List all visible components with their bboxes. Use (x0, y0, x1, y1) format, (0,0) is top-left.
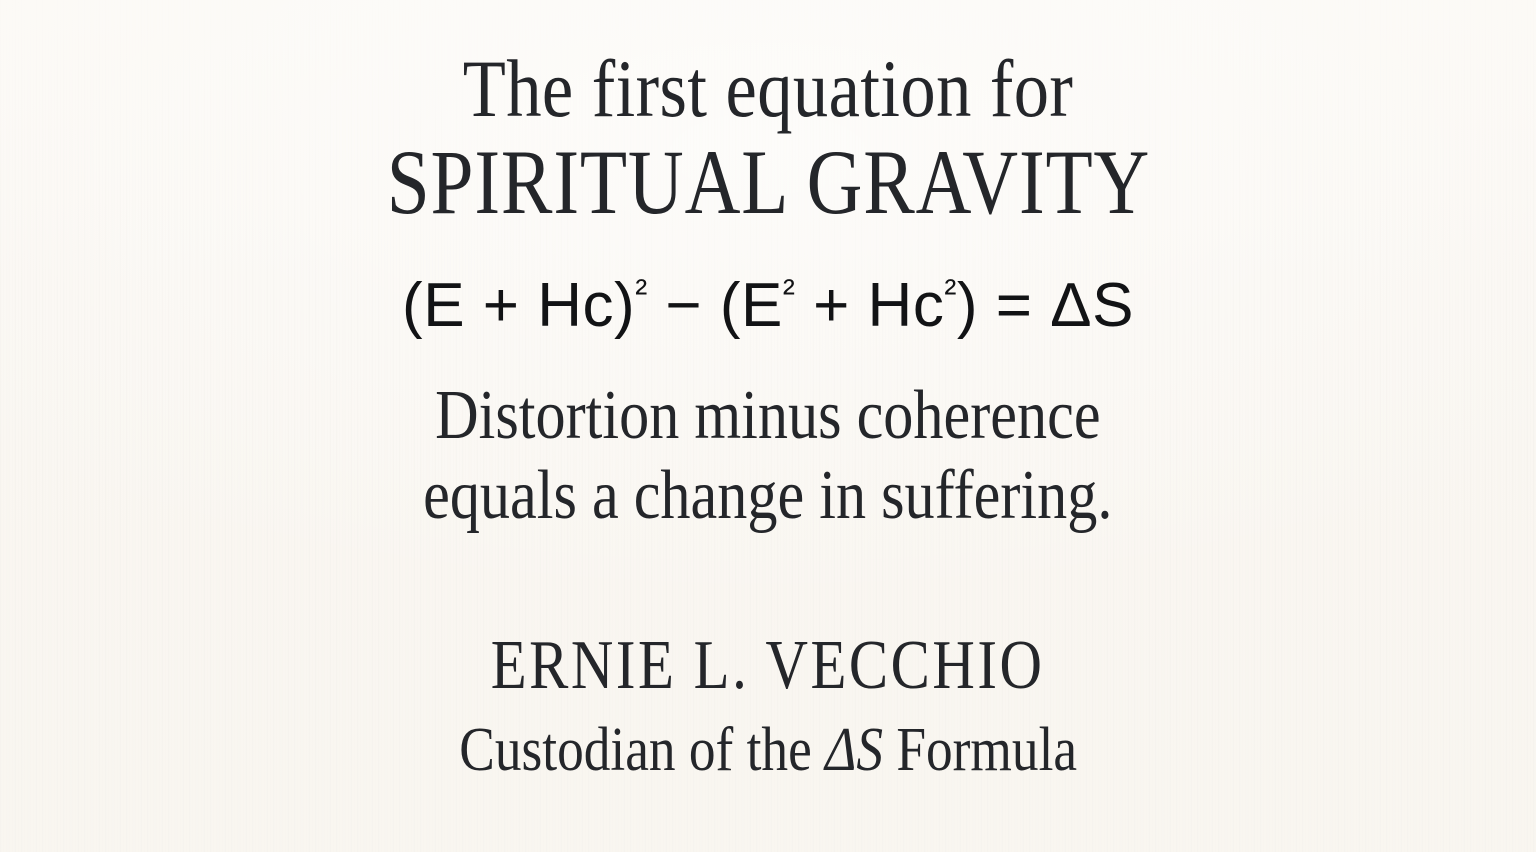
author-role-prefix: Custodian of the (459, 716, 825, 784)
equation-term-hc-squared: Hc (868, 271, 945, 340)
equation-plus-one: + (483, 271, 520, 340)
equation-term-e-squared: E (741, 271, 783, 340)
author-name: ERNIE L. VECCHIO (491, 631, 1045, 701)
equation-exponent-hc: ² (944, 271, 956, 312)
equation-display: (E + Hc)² − (E² + Hc²) = ΔS (402, 275, 1134, 337)
title-block: The first equation for SPIRITUAL GRAVITY (314, 48, 1223, 231)
equation-term-e: E (423, 271, 465, 340)
subtitle-line-two: equals a change in suffering. (423, 457, 1112, 535)
author-role-suffix: Formula (883, 716, 1077, 784)
equation-right-close-paren: ) (614, 271, 635, 340)
equation-left-open-paren: ( (402, 271, 423, 340)
equation-exponent-outer: ² (635, 271, 647, 312)
equation-second-open-paren: ( (720, 271, 741, 340)
title-card-slide: The first equation for SPIRITUAL GRAVITY… (0, 0, 1536, 852)
equation-exponent-e: ² (783, 271, 795, 312)
author-role-delta-symbol: ΔS (825, 716, 883, 784)
equation-plus-two: + (813, 271, 850, 340)
author-role: Custodian of the ΔS Formula (459, 719, 1077, 781)
equation-result-delta-s: ΔS (1050, 271, 1134, 340)
equation-equals-sign: = (996, 271, 1033, 340)
subtitle-line-one: Distortion minus coherence (435, 377, 1100, 455)
page-title-line-two: SPIRITUAL GRAVITY (386, 134, 1150, 231)
equation-term-hc: Hc (537, 271, 614, 340)
equation-minus-sign: − (665, 271, 702, 340)
page-title-line-one: The first equation for (463, 48, 1074, 130)
content-stack: The first equation for SPIRITUAL GRAVITY… (0, 0, 1536, 852)
equation-second-close-paren: ) (957, 271, 978, 340)
